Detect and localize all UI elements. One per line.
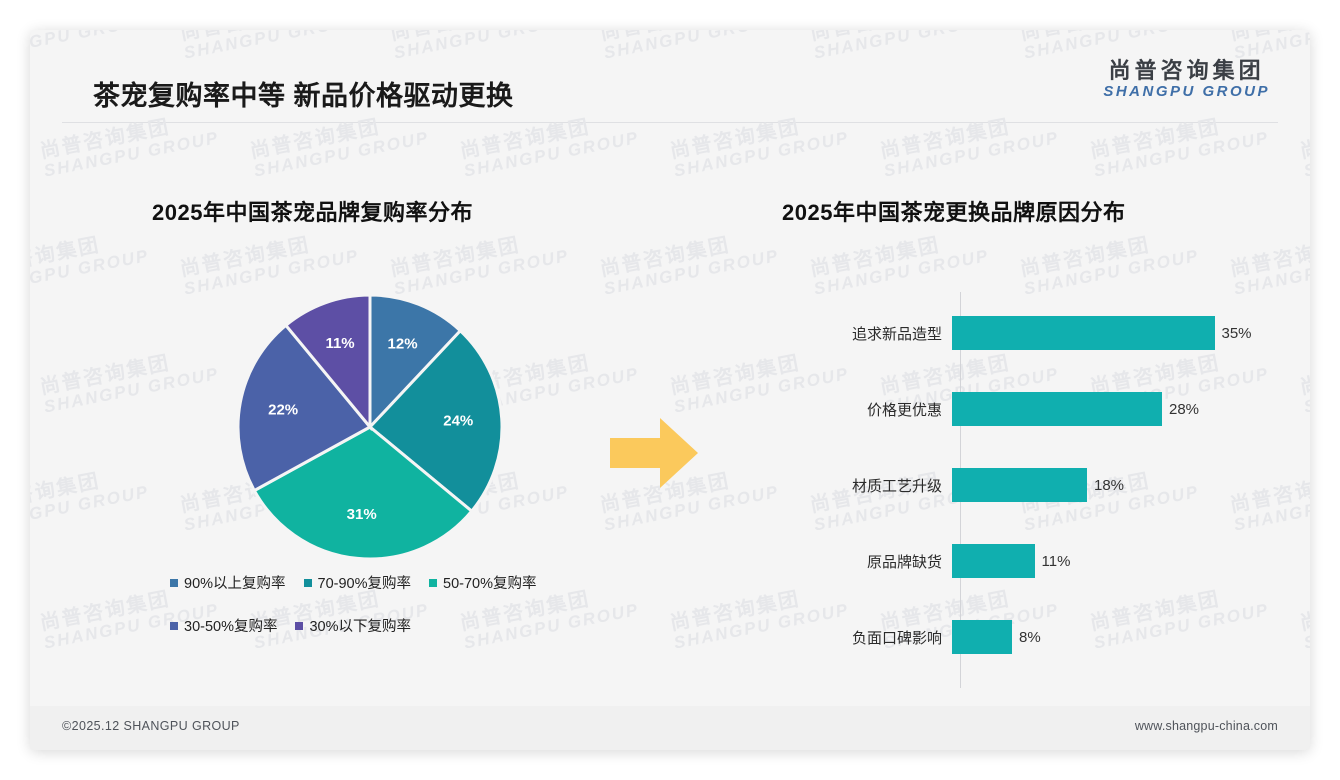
pie-legend-item[interactable]: 50-70%复购率 bbox=[429, 572, 536, 593]
bar-track: 18% bbox=[952, 468, 1280, 502]
pie-legend-item[interactable]: 30%以下复购率 bbox=[295, 615, 411, 636]
bar-value-label: 8% bbox=[1019, 629, 1041, 646]
pie-legend-label: 70-90%复购率 bbox=[318, 572, 411, 593]
bar-category-label: 原品牌缺货 bbox=[810, 551, 952, 572]
legend-swatch-icon bbox=[170, 579, 178, 587]
logo-english-text: SHANGPU GROUP bbox=[1103, 83, 1270, 100]
switch-reason-bar-chart: 追求新品造型35%价格更优惠28%材质工艺升级18%原品牌缺货11%负面口碑影响… bbox=[810, 292, 1280, 692]
pie-legend-label: 90%以上复购率 bbox=[184, 572, 286, 593]
pie-legend-label: 30%以下复购率 bbox=[309, 615, 411, 636]
legend-swatch-icon bbox=[170, 622, 178, 630]
bar-chart-row[interactable]: 原品牌缺货11% bbox=[810, 544, 1280, 578]
pie-legend: 90%以上复购率70-90%复购率50-70%复购率30-50%复购率30%以下… bbox=[170, 572, 590, 636]
pie-slice-label: 22% bbox=[268, 401, 298, 418]
bar-fill[interactable] bbox=[952, 544, 1035, 578]
watermark-text: 尚普咨询集团SHANGPU GROUP bbox=[1227, 219, 1310, 299]
watermark-text: 尚普咨询集团SHANGPU GROUP bbox=[1297, 573, 1310, 653]
pie-legend-item[interactable]: 90%以上复购率 bbox=[170, 572, 286, 593]
bar-value-label: 35% bbox=[1222, 325, 1252, 342]
bar-chart-row[interactable]: 材质工艺升级18% bbox=[810, 468, 1280, 502]
bar-value-label: 28% bbox=[1169, 401, 1199, 418]
watermark-text: 尚普咨询集团SHANGPU GROUP bbox=[30, 219, 151, 299]
pie-legend-label: 50-70%复购率 bbox=[443, 572, 536, 593]
bar-value-label: 11% bbox=[1042, 553, 1071, 570]
bar-track: 11% bbox=[952, 544, 1280, 578]
pie-slice-label: 11% bbox=[325, 335, 354, 352]
bar-fill[interactable] bbox=[952, 620, 1012, 654]
bar-category-label: 负面口碑影响 bbox=[810, 627, 952, 648]
pie-slice-label: 12% bbox=[388, 336, 418, 353]
watermark-text: 尚普咨询集团SHANGPU GROUP bbox=[30, 455, 151, 535]
watermark-text: 尚普咨询集团SHANGPU GROUP bbox=[1297, 337, 1310, 417]
bar-chart-row[interactable]: 负面口碑影响8% bbox=[810, 620, 1280, 654]
pie-legend-item[interactable]: 30-50%复购率 bbox=[170, 615, 277, 636]
right-chart-title: 2025年中国茶宠更换品牌原因分布 bbox=[782, 195, 1125, 227]
watermark-text: 尚普咨询集团SHANGPU GROUP bbox=[1017, 219, 1201, 299]
legend-swatch-icon bbox=[295, 622, 303, 630]
company-logo: 尚普咨询集团 SHANGPU GROUP bbox=[1103, 58, 1270, 101]
footer-copyright: ©2025.12 SHANGPU GROUP bbox=[62, 719, 240, 733]
watermark-text: 尚普咨询集团SHANGPU GROUP bbox=[807, 219, 991, 299]
bar-value-label: 18% bbox=[1094, 477, 1124, 494]
right-arrow-icon bbox=[608, 412, 700, 494]
bar-track: 35% bbox=[952, 316, 1280, 350]
bar-chart-row[interactable]: 追求新品造型35% bbox=[810, 316, 1280, 350]
left-chart-title: 2025年中国茶宠品牌复购率分布 bbox=[152, 195, 473, 227]
logo-chinese-text: 尚普咨询集团 bbox=[1103, 58, 1270, 83]
page-title: 茶宠复购率中等 新品价格驱动更换 bbox=[93, 74, 514, 113]
slide-card: 尚普咨询集团SHANGPU GROUP尚普咨询集团SHANGPU GROUP尚普… bbox=[30, 30, 1310, 750]
bar-fill[interactable] bbox=[952, 468, 1087, 502]
bar-chart-row[interactable]: 价格更优惠28% bbox=[810, 392, 1280, 426]
bar-category-label: 追求新品造型 bbox=[810, 323, 952, 344]
bar-fill[interactable] bbox=[952, 316, 1215, 350]
pie-legend-label: 30-50%复购率 bbox=[184, 615, 277, 636]
bar-category-label: 材质工艺升级 bbox=[810, 475, 952, 496]
bar-track: 8% bbox=[952, 620, 1280, 654]
repurchase-rate-pie-chart: 12%24%31%22%11% bbox=[235, 292, 505, 562]
slide-footer: ©2025.12 SHANGPU GROUP www.shangpu-china… bbox=[30, 706, 1310, 750]
watermark-text: 尚普咨询集团SHANGPU GROUP bbox=[387, 219, 571, 299]
pie-slice-label: 31% bbox=[347, 506, 377, 523]
pie-svg: 12%24%31%22%11% bbox=[235, 292, 505, 562]
bar-track: 28% bbox=[952, 392, 1280, 426]
pie-legend-item[interactable]: 70-90%复购率 bbox=[304, 572, 411, 593]
watermark-text: 尚普咨询集团SHANGPU GROUP bbox=[37, 337, 221, 417]
slide-header: 茶宠复购率中等 新品价格驱动更换 尚普咨询集团 SHANGPU GROUP bbox=[30, 30, 1310, 122]
pie-slice-label: 24% bbox=[443, 412, 473, 429]
footer-website[interactable]: www.shangpu-china.com bbox=[1135, 719, 1278, 733]
legend-swatch-icon bbox=[304, 579, 312, 587]
header-divider bbox=[62, 122, 1278, 123]
bar-fill[interactable] bbox=[952, 392, 1162, 426]
watermark-text: 尚普咨询集团SHANGPU GROUP bbox=[597, 219, 781, 299]
watermark-text: 尚普咨询集团SHANGPU GROUP bbox=[177, 219, 361, 299]
bar-category-label: 价格更优惠 bbox=[810, 399, 952, 420]
legend-swatch-icon bbox=[429, 579, 437, 587]
